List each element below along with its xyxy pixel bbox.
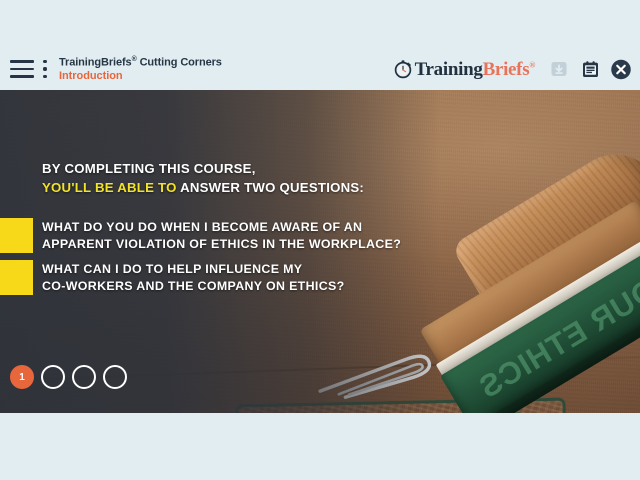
intro-line-1: BY COMPLETING THIS COURSE,	[42, 160, 412, 179]
slide-content: BY COMPLETING THIS COURSE, YOU'LL BE ABL…	[0, 90, 440, 413]
intro-line-2: YOU'LL BE ABLE TO ANSWER TWO QUESTIONS:	[42, 179, 412, 198]
kebab-dot	[43, 75, 46, 78]
objective-line-1: WHAT DO YOU DO WHEN I BECOME AWARE OF AN	[42, 219, 401, 236]
objective-line-2: APPARENT VIOLATION OF ETHICS IN THE WORK…	[42, 236, 401, 253]
hamburger-menu-icon[interactable]	[10, 60, 34, 78]
training-player: TrainingBriefs® Cutting Corners Introduc…	[0, 0, 640, 480]
pagination-dot-1[interactable]: 1	[10, 365, 34, 389]
hamburger-bar	[10, 60, 34, 63]
pagination-dot-3[interactable]	[72, 365, 96, 389]
course-title-brand: TrainingBriefs	[59, 56, 132, 68]
objective-line-1: WHAT CAN I DO TO HELP INFLUENCE MY	[42, 261, 345, 278]
pagination-dot-4[interactable]	[103, 365, 127, 389]
course-title: TrainingBriefs® Cutting Corners	[59, 56, 222, 70]
hamburger-bar	[10, 75, 34, 78]
brand-word-training: Training	[415, 59, 483, 80]
pagination: 1	[10, 365, 127, 389]
close-icon[interactable]	[610, 58, 632, 80]
download-glyph	[549, 59, 569, 79]
kebab-dot	[43, 67, 46, 70]
intro-highlight: YOU'LL BE ABLE TO	[42, 180, 177, 195]
header-actions: TrainingBriefs®	[393, 48, 632, 90]
kebab-dot	[43, 60, 46, 63]
slide-intro: BY COMPLETING THIS COURSE, YOU'LL BE ABL…	[42, 160, 412, 197]
notes-glyph	[580, 59, 601, 80]
objective-item: WHAT DO YOU DO WHEN I BECOME AWARE OF AN…	[0, 218, 401, 253]
objective-item: WHAT CAN I DO TO HELP INFLUENCE MY CO-WO…	[0, 260, 345, 295]
hamburger-bar	[10, 68, 34, 71]
slide-stage: OUR ETHICS OUR ETHICS BY COMPLETING THIS…	[0, 90, 640, 413]
brand-word-briefs: Briefs	[483, 59, 530, 80]
intro-line-2-rest: ANSWER TWO QUESTIONS:	[177, 180, 364, 195]
notes-icon[interactable]	[579, 58, 601, 80]
kebab-menu-icon[interactable]	[42, 60, 48, 78]
course-title-rest: Cutting Corners	[137, 56, 222, 68]
player-header: TrainingBriefs® Cutting Corners Introduc…	[0, 48, 640, 90]
brand-wordmark: TrainingBriefs®	[415, 60, 535, 79]
brand-registered-mark: ®	[529, 60, 535, 69]
trainingbriefs-logo: TrainingBriefs®	[393, 59, 535, 79]
bullet-marker-yellow	[0, 218, 33, 253]
pagination-dot-2[interactable]	[41, 365, 65, 389]
close-glyph	[610, 58, 632, 81]
objective-text: WHAT CAN I DO TO HELP INFLUENCE MY CO-WO…	[42, 260, 345, 295]
bullet-marker-yellow	[0, 260, 33, 295]
stopwatch-icon	[393, 59, 413, 79]
lesson-title: Introduction	[59, 70, 222, 83]
breadcrumb: TrainingBriefs® Cutting Corners Introduc…	[59, 55, 222, 84]
download-icon	[548, 58, 570, 80]
objective-text: WHAT DO YOU DO WHEN I BECOME AWARE OF AN…	[42, 218, 401, 253]
objective-line-2: CO-WORKERS AND THE COMPANY ON ETHICS?	[42, 278, 345, 295]
